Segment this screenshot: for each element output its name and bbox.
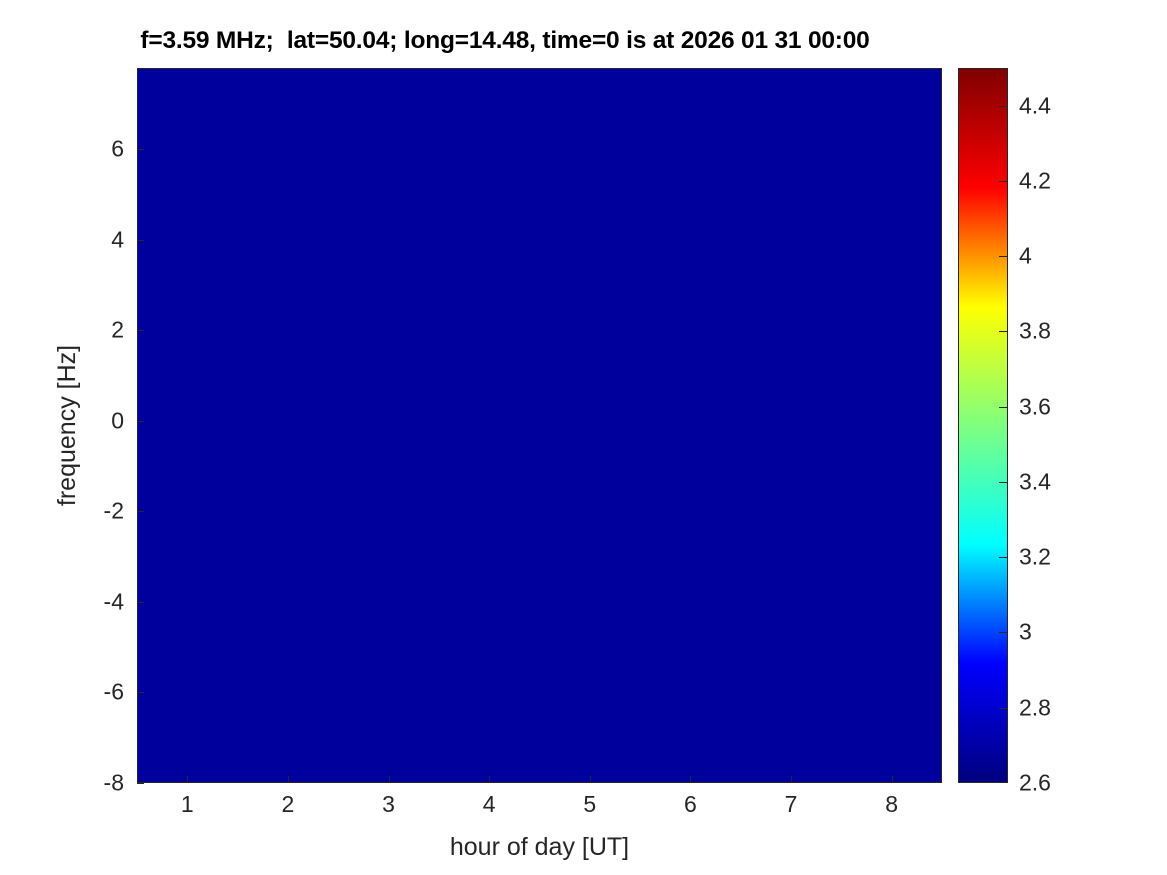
x-tick-mark [489,776,490,783]
colorbar-gradient [959,69,1007,782]
figure-canvas: f=3.59 MHz; lat=50.04; long=14.48, time=… [0,0,1167,875]
y-tick-mark [137,421,144,422]
colorbar-tick-label: 4.2 [1019,167,1051,194]
x-tick-mark [187,776,188,783]
colorbar-tick-label: 3.6 [1019,393,1051,420]
y-tick-mark [137,692,144,693]
colorbar-tick-label: 2.8 [1019,694,1051,721]
y-tick-label: 2 [111,317,124,344]
colorbar-tick-mark [999,482,1008,483]
y-tick-label: -6 [104,679,124,706]
colorbar-tick-label: 3.4 [1019,468,1051,495]
colorbar-tick-mark [999,407,1008,408]
y-tick-mark [137,330,144,331]
y-tick-mark [137,511,144,512]
colorbar-tick-label: 3.2 [1019,544,1051,571]
x-tick-mark [288,776,289,783]
colorbar-tick-label: 2.6 [1019,770,1051,797]
y-tick-label: -2 [104,498,124,525]
x-tick-label: 8 [885,791,898,818]
colorbar-tick-mark [999,106,1008,107]
colorbar-tick-label: 3.8 [1019,318,1051,345]
y-tick-label: 4 [111,226,124,253]
x-tick-label: 2 [282,791,295,818]
y-tick-label: 6 [111,136,124,163]
x-tick-label: 5 [583,791,596,818]
colorbar-tick-mark [999,331,1008,332]
heatmap-surface [138,69,941,782]
y-tick-label: -4 [104,588,124,615]
x-tick-mark [892,776,893,783]
y-axis-label: frequency [Hz] [50,68,84,783]
y-tick-mark [137,783,144,784]
colorbar-tick-mark [999,256,1008,257]
y-tick-label: 0 [111,407,124,434]
x-tick-label: 1 [181,791,194,818]
y-tick-label: -8 [104,770,124,797]
colorbar-tick-mark [999,181,1008,182]
x-tick-label: 3 [382,791,395,818]
x-tick-mark [590,776,591,783]
x-tick-mark [389,776,390,783]
y-tick-mark [137,149,144,150]
colorbar-tick-mark [999,557,1008,558]
colorbar-tick-label: 4 [1019,243,1032,270]
heatmap-plot-area[interactable] [137,68,942,783]
x-tick-label: 6 [684,791,697,818]
y-tick-mark [137,602,144,603]
page-title: f=3.59 MHz; lat=50.04; long=14.48, time=… [0,27,1010,55]
y-tick-mark [137,240,144,241]
x-tick-mark [791,776,792,783]
colorbar-tick-mark [999,632,1008,633]
colorbar-tick-mark [999,708,1008,709]
colorbar[interactable] [958,68,1008,783]
x-tick-mark [690,776,691,783]
x-tick-label: 4 [483,791,496,818]
x-axis-label: hour of day [UT] [137,833,942,862]
colorbar-tick-label: 3 [1019,619,1032,646]
x-tick-label: 7 [785,791,798,818]
colorbar-tick-label: 4.4 [1019,92,1051,119]
